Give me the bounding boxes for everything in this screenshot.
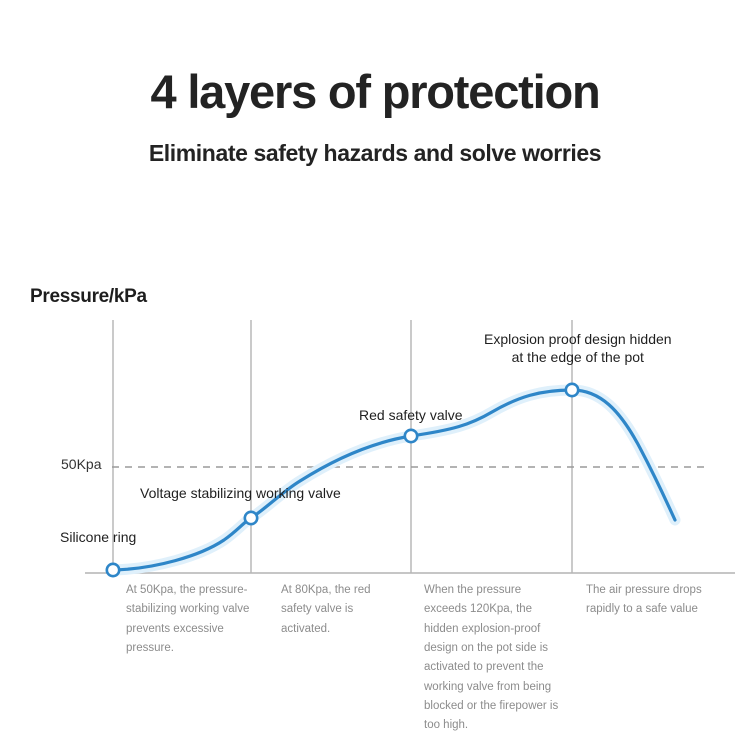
- caption-stage-3: When the pressure exceeds 120Kpa, the hi…: [424, 581, 566, 736]
- y-axis-title: Pressure/kPa: [30, 286, 147, 308]
- y-tick-label-50kpa: 50Kpa: [61, 456, 101, 472]
- annotation-voltage-stabilizing-valve: Voltage stabilizing working valve: [140, 484, 341, 502]
- pressure-chart: Pressure/kPa 50Kpa Silicone ring Voltage…: [0, 0, 750, 750]
- annotation-explosion-proof-line1: Explosion proof design hidden: [484, 330, 672, 348]
- data-point-markers: [107, 384, 578, 576]
- data-point-voltage-stabilizing-valve[interactable]: [245, 512, 257, 524]
- caption-stage-1: At 50Kpa, the pressure-stabilizing worki…: [126, 581, 254, 658]
- annotation-red-safety-valve: Red safety valve: [359, 406, 463, 424]
- annotation-explosion-proof: Explosion proof design hidden at the edg…: [484, 330, 672, 367]
- annotation-silicone-ring: Silicone ring: [60, 528, 136, 546]
- caption-stage-2: At 80Kpa, the red safety valve is activa…: [281, 581, 401, 639]
- data-point-red-safety-valve[interactable]: [405, 430, 417, 442]
- data-point-explosion-proof[interactable]: [566, 384, 578, 396]
- caption-stage-4: The air pressure drops rapidly to a safe…: [586, 581, 736, 620]
- annotation-explosion-proof-line2: at the edge of the pot: [484, 348, 672, 366]
- data-point-silicone-ring[interactable]: [107, 564, 119, 576]
